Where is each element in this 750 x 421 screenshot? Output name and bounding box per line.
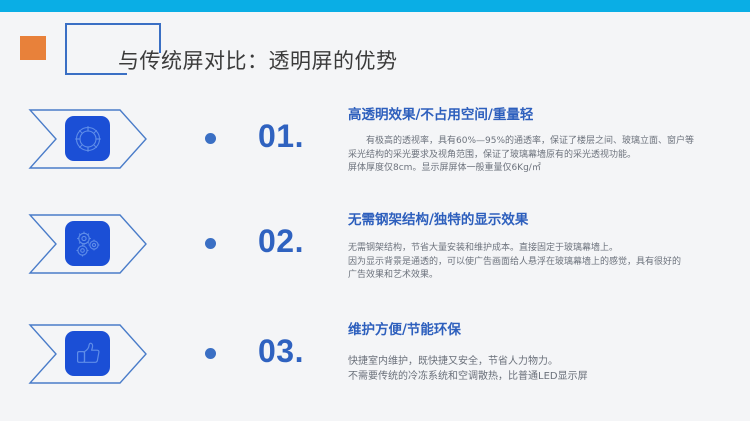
gears-icon [73, 229, 103, 259]
page-title: 与传统屏对比：透明屏的优势 [118, 46, 398, 76]
feature-row: 02. 无需钢架结构/独特的显示效果 无需钢架结构，节省大量安装和维护成本。直接… [0, 205, 750, 305]
row-body-line: 快捷室内维护，既快捷又安全，节省人力物力。 [348, 354, 738, 369]
feature-row: 03. 维护方便/节能环保 快捷室内维护，既快捷又安全，节省人力物力。 不需要传… [0, 315, 750, 415]
row-body-line: 广告效果和艺术效果。 [348, 269, 738, 283]
row-icon-tile [65, 331, 110, 376]
feature-row: 01. 高透明效果/不占用空间/重量轻 有极高的透视率，具有60%—95%的通透… [0, 100, 750, 200]
row-number: 01. [258, 117, 304, 155]
row-text-block: 维护方便/节能环保 快捷室内维护，既快捷又安全，节省人力物力。 不需要传统的冷冻… [348, 321, 738, 384]
row-bullet-dot [205, 348, 216, 359]
aperture-icon [73, 124, 103, 154]
row-body: 无需钢架结构，节省大量安装和维护成本。直接固定于玻璃幕墙上。 因为显示背景是通透… [348, 242, 738, 283]
row-body: 快捷室内维护，既快捷又安全，节省人力物力。 不需要传统的冷冻系统和空调散热，比普… [348, 354, 738, 384]
row-body-line: 因为显示背景是通透的，可以使广告画面给人悬浮在玻璃幕墙上的感觉，具有很好的 [348, 256, 738, 270]
row-number: 02. [258, 222, 304, 260]
row-text-block: 无需钢架结构/独特的显示效果 无需钢架结构，节省大量安装和维护成本。直接固定于玻… [348, 211, 738, 283]
row-body-line: 有极高的透视率，具有60%—95%的通透率，保证了楼层之间、玻璃立面、窗户等 [348, 135, 738, 149]
orange-square-decoration [20, 36, 46, 60]
row-heading: 高透明效果/不占用空间/重量轻 [348, 106, 738, 125]
row-body-line: 采光结构的采光要求及视角范围，保证了玻璃幕墙原有的采光透视功能。 [348, 149, 738, 163]
row-icon-tile [65, 116, 110, 161]
row-bullet-dot [205, 133, 216, 144]
thumbs-up-icon [73, 339, 103, 369]
row-body-line: 无需钢架结构，节省大量安装和维护成本。直接固定于玻璃幕墙上。 [348, 242, 738, 256]
slide-canvas: 与传统屏对比：透明屏的优势 [0, 0, 750, 421]
row-body: 有极高的透视率，具有60%—95%的通透率，保证了楼层之间、玻璃立面、窗户等 采… [348, 135, 738, 176]
row-heading: 维护方便/节能环保 [348, 321, 738, 340]
row-body-line: 不需要传统的冷冻系统和空调散热，比普通LED显示屏 [348, 369, 738, 384]
top-accent-bar [0, 0, 750, 12]
row-body-line: 屏体厚度仅8cm。显示屏屏体一般重量仅6Kg/㎡ [348, 162, 738, 176]
row-text-block: 高透明效果/不占用空间/重量轻 有极高的透视率，具有60%—95%的通透率，保证… [348, 106, 738, 176]
row-icon-tile [65, 221, 110, 266]
row-heading: 无需钢架结构/独特的显示效果 [348, 211, 738, 230]
row-number: 03. [258, 332, 304, 370]
row-bullet-dot [205, 238, 216, 249]
